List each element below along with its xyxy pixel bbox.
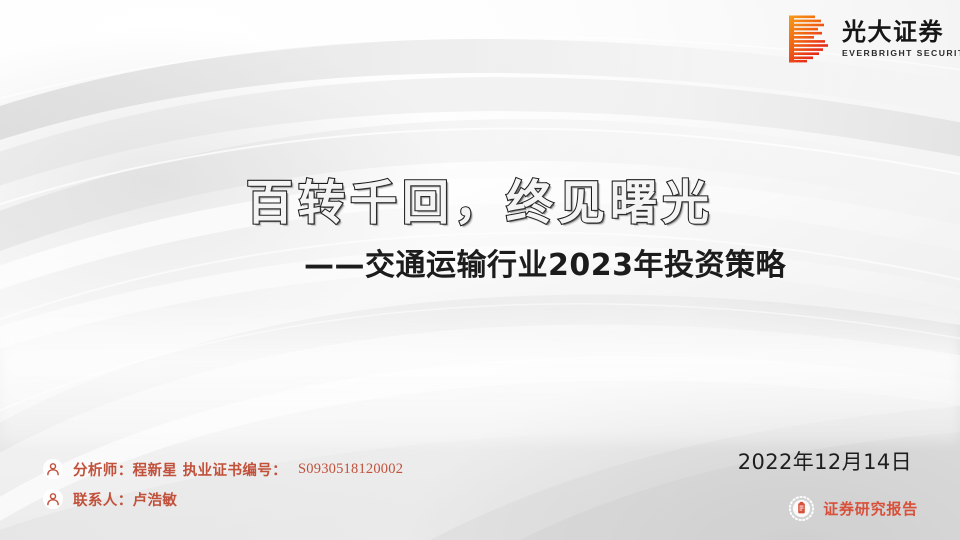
background-gloss — [0, 302, 960, 442]
brand-name-cn: 光大证券 — [842, 20, 960, 46]
document-report-icon — [788, 495, 815, 522]
report-cover-slide: 光大证券 EVERBRIGHT SECURITIES 百转千回，终见曙光 ——交… — [0, 0, 960, 540]
page-subtitle: ——交通运输行业2023年投资策略 — [0, 240, 960, 284]
everbright-b-mark-icon — [787, 14, 833, 64]
person-icon — [42, 488, 64, 510]
page-title: 百转千回，终见曙光 — [0, 164, 960, 233]
brand-name-en: EVERBRIGHT SECURITIES — [842, 48, 960, 58]
analyst-info: 分析师：程新星 执业证书编号： S0930518120002 联系人：卢浩敏 — [42, 458, 403, 510]
report-type-badge: 证券研究报告 — [788, 495, 918, 522]
person-icon — [42, 458, 64, 480]
analyst-row: 分析师：程新星 执业证书编号： S0930518120002 — [42, 458, 403, 480]
brand-logo: 光大证券 EVERBRIGHT SECURITIES — [787, 14, 960, 64]
brand-wordmark: 光大证券 EVERBRIGHT SECURITIES — [842, 20, 960, 59]
contact-label: 联系人：卢浩敏 — [73, 489, 177, 510]
contact-row: 联系人：卢浩敏 — [42, 488, 403, 510]
analyst-label: 分析师：程新星 执业证书编号： — [73, 459, 287, 480]
analyst-certificate-number: S0930518120002 — [298, 461, 403, 478]
publish-date: 2022年12月14日 — [738, 446, 912, 476]
report-type-label: 证券研究报告 — [823, 498, 918, 519]
